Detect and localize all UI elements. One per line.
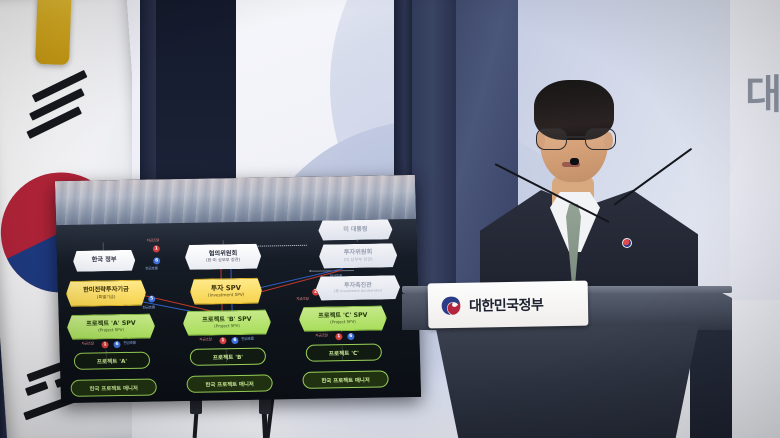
node-project-b[interactable]: 프로젝트 'B' (190, 348, 266, 366)
microphone-head-icon (570, 158, 579, 165)
backdrop-dark-slab (156, 0, 236, 196)
funding-label: 자금조달 (296, 297, 309, 302)
funding-label: 자금조달 (81, 342, 94, 347)
funding-label: 자금조달 (199, 337, 212, 342)
node-subtitle: (美 Investment Accelerator) (334, 289, 382, 293)
node-subtitle: (미 상무부 장관) (344, 257, 373, 262)
flow-number: 6 (113, 341, 120, 348)
podium-front-panel (424, 326, 710, 438)
node-title: 미 대통령 (343, 227, 367, 233)
korean-flag-lapel-pin-icon (622, 238, 632, 248)
node-project-spv-c[interactable]: 프로젝트 'C' SPV (Project SPV) (299, 305, 388, 332)
node-korea-us-fund[interactable]: 한미전략투자기금 (특별기금) (66, 280, 147, 307)
cashflow-label: 현금흐름 (145, 266, 158, 271)
microphone-boom-right (613, 148, 692, 206)
board-diagram-area: 1 자금조달 6 현금흐름 2 자금조달 5 현금흐름 3 자금조달 4 현금흐… (56, 219, 421, 403)
cashflow-label: 현금흐름 (142, 305, 155, 310)
flag-tassel (35, 0, 72, 65)
flow-number: 5 (148, 295, 155, 302)
flow-number: 6 (153, 257, 160, 264)
flow-number: 1 (335, 333, 342, 340)
flow-number: 1 (153, 245, 160, 252)
flow-number: 6 (347, 333, 354, 340)
podium-sign-text: 대한민국정부 (469, 294, 544, 315)
node-title: 프로젝트 'C' SPV (318, 312, 367, 319)
flow-number: 1 (101, 341, 108, 348)
node-investment-spv[interactable]: 투자 SPV (Investment SPV) (190, 278, 263, 305)
node-manager-c[interactable]: 한국 프로젝트 매니저 (302, 370, 388, 388)
node-title: 투자촉진관 (344, 282, 372, 288)
node-subtitle: (Project SPV) (214, 324, 240, 328)
node-title: 프로젝트 'B' SPV (202, 316, 252, 323)
node-title: 프로젝트 'A' SPV (86, 320, 136, 327)
node-investment-committee[interactable]: 투자위원회 (미 상무부 장관) (319, 243, 398, 268)
podium-sign: 대한민국정부 (428, 281, 589, 329)
node-title: 한국 정부 (92, 258, 117, 265)
node-subtitle: (한·미 상무부 장관) (206, 258, 240, 263)
node-kr-gov[interactable]: 한국 정부 (73, 250, 136, 272)
node-subtitle: (Project SPV) (330, 320, 356, 324)
korea-government-emblem-icon (440, 294, 462, 316)
cashflow-label: 현금흐름 (123, 341, 136, 346)
presentation-board[interactable]: 1 자금조달 6 현금흐름 2 자금조달 5 현금흐름 3 자금조달 4 현금흐… (55, 175, 421, 403)
funding-label: 자금조달 (315, 333, 328, 338)
node-us-president[interactable]: 미 대통령 (318, 219, 393, 240)
node-title: 투자위원회 (344, 250, 373, 257)
backdrop-corner-text: 대 (745, 62, 780, 120)
node-project-a[interactable]: 프로젝트 'A' (74, 352, 150, 370)
node-project-spv-a[interactable]: 프로젝트 'A' SPV (Project SPV) (67, 313, 156, 340)
node-subtitle: (Investment SPV) (208, 293, 244, 298)
node-subtitle: (Project SPV) (98, 328, 124, 332)
node-project-spv-b[interactable]: 프로젝트 'B' SPV (Project SPV) (183, 309, 272, 336)
funding-label: 자금조달 (147, 238, 160, 243)
node-manager-a[interactable]: 한국 프로젝트 매니저 (70, 378, 156, 396)
trigram-bar (25, 381, 48, 396)
eyeglasses-icon (536, 128, 614, 148)
flow-number: 6 (231, 337, 238, 344)
node-investment-accelerator[interactable]: 투자촉진관 (美 Investment Accelerator) (316, 275, 401, 300)
node-joint-committee[interactable]: 협의위원회 (한·미 상무부 장관) (185, 244, 262, 270)
node-title: 한미전략투자기금 (83, 287, 129, 294)
node-title: 투자 SPV (211, 285, 241, 292)
backdrop-navy-panel-2 (412, 0, 458, 300)
node-subtitle: (특별기금) (97, 295, 116, 300)
flow-number: 1 (219, 337, 226, 344)
cashflow-label: 현금흐름 (241, 337, 254, 342)
screenshot-root: 대 (0, 0, 780, 438)
node-manager-b[interactable]: 한국 프로젝트 매니저 (186, 374, 272, 392)
node-project-c[interactable]: 프로젝트 'C' (306, 343, 382, 361)
